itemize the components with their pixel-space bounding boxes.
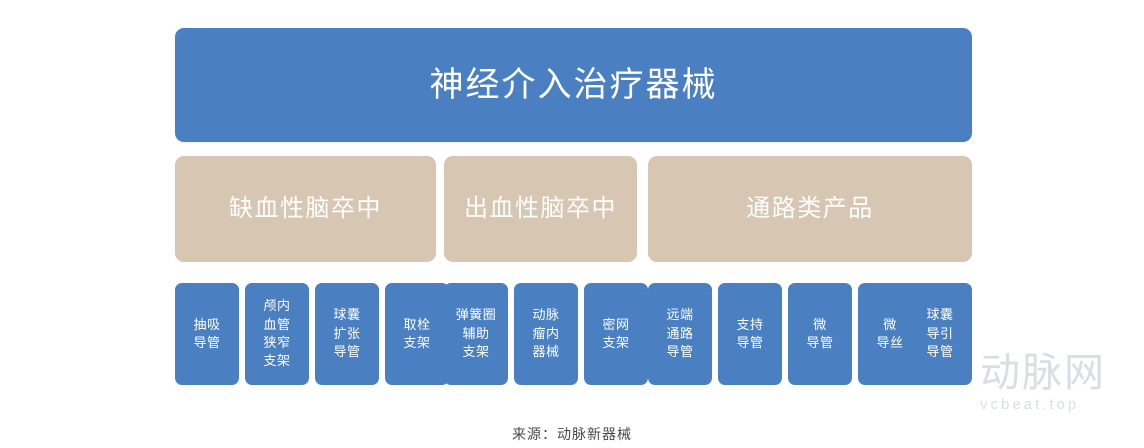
product-label: 支持 导管 [736,316,763,353]
product-label: 密网 支架 [602,316,629,353]
root-node-neurointervention-devices: 神经介入治疗器械 [175,28,972,142]
product-node: 抽吸 导管 [175,283,239,385]
root-node-title: 神经介入治疗器械 [430,68,718,102]
product-node: 取栓 支架 [385,283,449,385]
product-node: 颅内 血管 狭窄 支架 [245,283,309,385]
product-label: 取栓 支架 [403,316,430,353]
product-node: 动脉 瘤内 器械 [514,283,578,385]
product-label: 动脉 瘤内 器械 [532,306,559,361]
product-node: 微 导管 [788,283,852,385]
category-label: 通路类产品 [746,197,874,221]
category-label: 出血性脑卒中 [464,197,617,221]
category-row: 缺血性脑卒中 出血性脑卒中 通路类产品 [175,156,972,262]
product-label: 球囊 导引 导管 [926,306,953,361]
product-row: 抽吸 导管 颅内 血管 狭窄 支架 球囊 扩张 导管 取栓 支架 弹簧圈 辅助 … [175,283,972,385]
product-label: 颅内 血管 狭窄 支架 [263,297,290,371]
product-label: 弹簧圈 辅助 支架 [456,306,497,361]
source-caption: 来源：动脉新器械 [0,424,1144,444]
product-node: 支持 导管 [718,283,782,385]
neurointervention-device-hierarchy-diagram: 神经介入治疗器械 缺血性脑卒中 出血性脑卒中 通路类产品 抽吸 导管 颅内 血管… [175,28,972,385]
product-node: 球囊 导引 导管 [908,283,972,385]
product-node: 密网 支架 [584,283,648,385]
category-node-access-products: 通路类产品 [648,156,972,262]
category-node-ischemic-stroke: 缺血性脑卒中 [175,156,436,262]
product-node: 弹簧圈 辅助 支架 [444,283,508,385]
watermark-glyphs: 动脉网 [980,353,1144,393]
product-node: 球囊 扩张 导管 [315,283,379,385]
product-label: 球囊 扩张 导管 [333,306,360,361]
watermark-subtext: vcbeat.top [980,397,1144,412]
watermark: 动脉网 vcbeat.top [980,353,1144,415]
product-label: 微 导管 [806,316,833,353]
product-label: 抽吸 导管 [193,316,220,353]
category-node-hemorrhagic-stroke: 出血性脑卒中 [444,156,637,262]
product-label: 微 导丝 [876,316,903,353]
product-label: 远端 通路 导管 [666,306,693,361]
category-label: 缺血性脑卒中 [229,197,382,221]
product-node: 远端 通路 导管 [648,283,712,385]
